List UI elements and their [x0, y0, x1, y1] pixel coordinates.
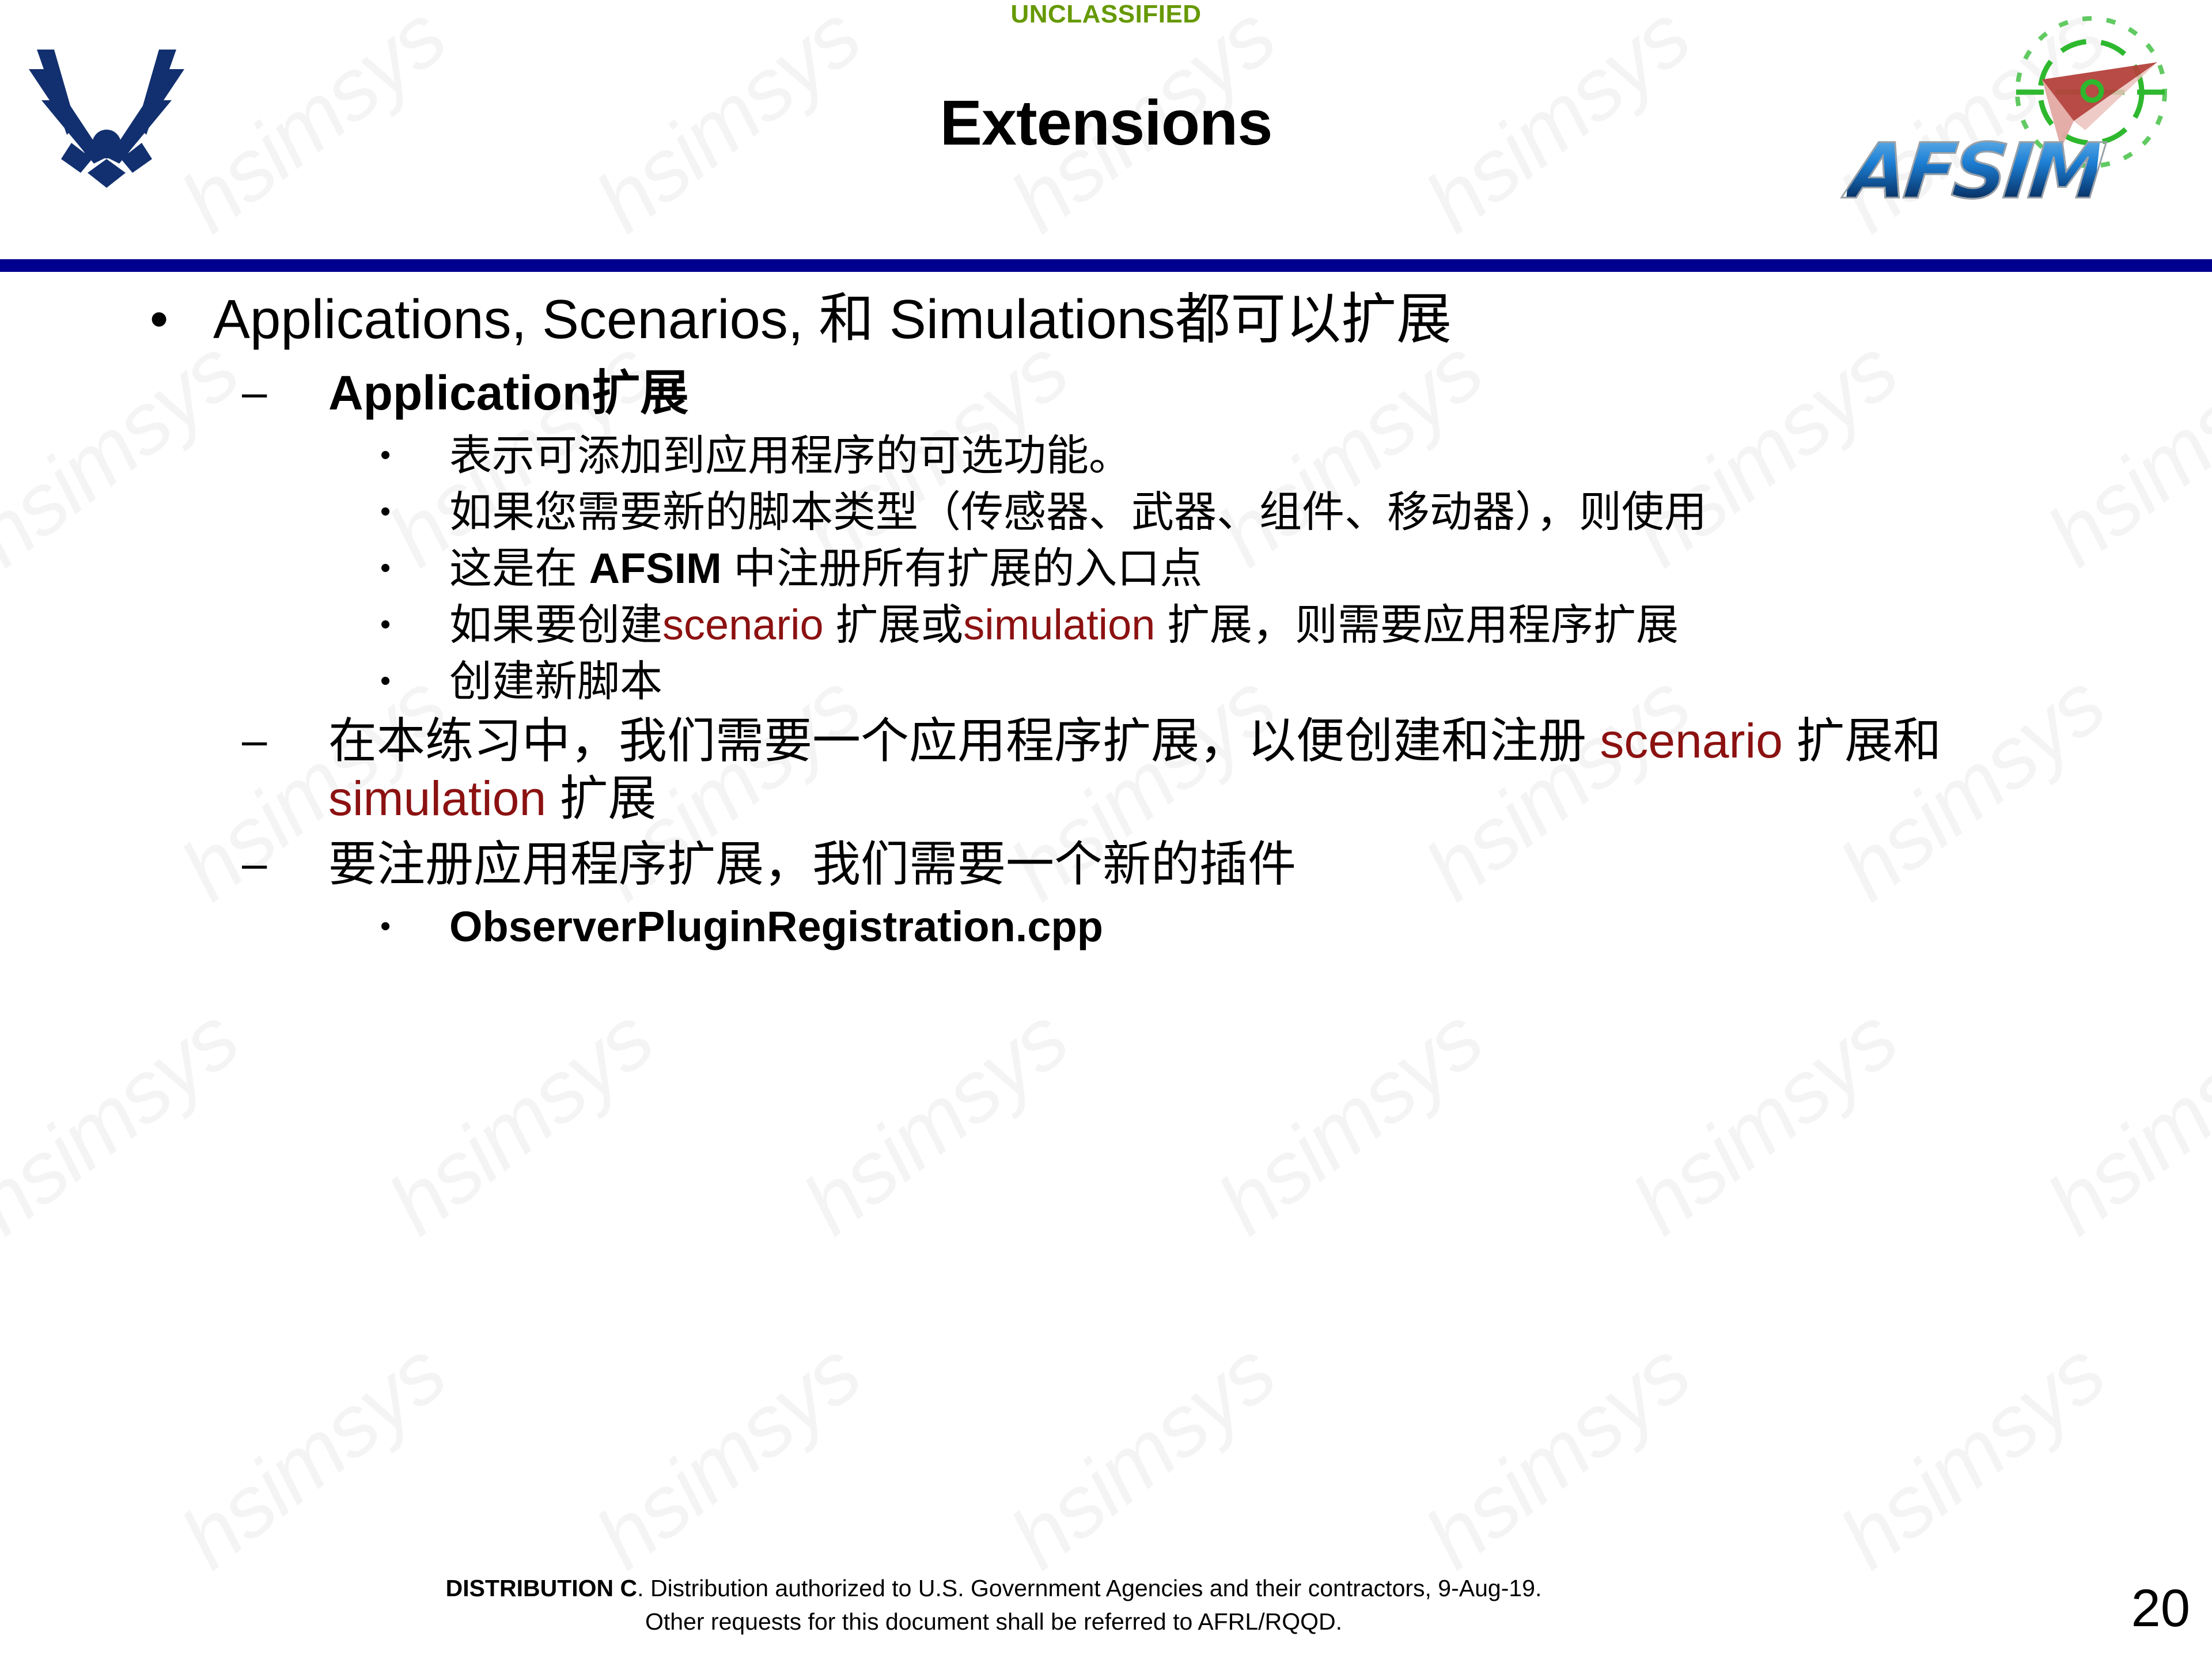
bullet-text-segment: scenario: [1600, 714, 1783, 768]
bullet-text: Applications, Scenarios, 和 Simulations都可…: [213, 288, 2212, 351]
distribution-text: . Distribution authorized to U.S. Govern…: [637, 1575, 1541, 1601]
disc-bullet-icon: •: [150, 288, 213, 350]
bullet-level-3: •如果您需要新的脚本类型（传感器、武器、组件、移动器），则使用: [0, 486, 2212, 538]
distribution-label: DISTRIBUTION C: [446, 1575, 638, 1601]
bullet-text-segment: 扩展和: [1783, 714, 1941, 768]
bullet-text: 表示可添加到应用程序的可选功能。: [449, 430, 2212, 482]
bullet-level-3: •这是在 AFSIM 中注册所有扩展的入口点: [0, 543, 2212, 594]
bullet-level-1: •Applications, Scenarios, 和 Simulations都…: [0, 288, 2212, 351]
watermark-text: hsimsys: [0, 988, 256, 1254]
bullet-text-segment: 扩展: [546, 771, 656, 825]
disc-bullet-icon: •: [380, 543, 449, 593]
watermark-text: hsimsys: [1822, 1323, 2123, 1588]
bullet-level-3: •创建新脚本: [0, 656, 2212, 707]
bullet-text-segment: 如果要创建: [449, 601, 662, 649]
page-number: 20: [2131, 1580, 2190, 1637]
bullet-level-2: –要注册应用程序扩展，我们需要一个新的插件: [0, 835, 2212, 893]
bullet-level-2: –Application扩展: [0, 364, 2212, 422]
dash-bullet-icon: –: [242, 364, 328, 419]
disc-bullet-icon: •: [380, 430, 449, 480]
bullet-text-segment: 在本练习中，我们需要一个应用程序扩展，以便创建和注册: [328, 714, 1600, 768]
bullet-text-segment: 扩展，则需要应用程序扩展: [1155, 601, 1679, 649]
slide-body: •Applications, Scenarios, 和 Simulations都…: [0, 288, 2212, 957]
bullet-text-segment: 中注册所有扩展的入口点: [722, 544, 1203, 592]
watermark-text: hsimsys: [370, 988, 671, 1254]
bullet-text: 在本练习中，我们需要一个应用程序扩展，以便创建和注册 scenario 扩展和s…: [328, 712, 2212, 827]
bullet-text-segment: 这是在: [449, 544, 589, 592]
watermark-text: hsimsys: [993, 1323, 1293, 1588]
bullet-text: 如果要创建scenario 扩展或simulation 扩展，则需要应用程序扩展: [449, 599, 2212, 651]
distribution-line-2: Other requests for this document shall b…: [0, 1605, 1987, 1638]
afsim-logo-icon: AFSIM: [1843, 12, 2200, 225]
disc-bullet-icon: •: [380, 599, 449, 650]
watermark-text: hsimsys: [2029, 988, 2212, 1254]
bullet-level-2: –在本练习中，我们需要一个应用程序扩展，以便创建和注册 scenario 扩展和…: [0, 712, 2212, 827]
disc-bullet-icon: •: [380, 486, 449, 537]
distribution-statement: DISTRIBUTION C. Distribution authorized …: [0, 1571, 1987, 1638]
bullet-text-segment: simulation: [328, 771, 546, 825]
disc-bullet-icon: •: [380, 656, 449, 706]
bullet-text: Application扩展: [328, 364, 2212, 422]
title-divider: [0, 259, 2212, 272]
bullet-text-segment: scenario: [662, 601, 824, 649]
afsim-wordmark: AFSIM: [1844, 126, 2102, 218]
dash-bullet-icon: –: [242, 835, 328, 891]
bullet-text-segment: 扩展或: [824, 601, 964, 649]
bullet-text: 创建新脚本: [449, 656, 2212, 707]
watermark-text: hsimsys: [785, 988, 1086, 1254]
distribution-line-1: DISTRIBUTION C. Distribution authorized …: [0, 1571, 1987, 1605]
bullet-text: 要注册应用程序扩展，我们需要一个新的插件: [328, 835, 2212, 893]
watermark-text: hsimsys: [1200, 988, 1501, 1254]
watermark-text: hsimsys: [1407, 1323, 1708, 1588]
bullet-level-3: •如果要创建scenario 扩展或simulation 扩展，则需要应用程序扩…: [0, 599, 2212, 651]
usaf-logo-icon: [12, 22, 202, 189]
watermark-text: hsimsys: [578, 1323, 878, 1588]
bullet-text: 这是在 AFSIM 中注册所有扩展的入口点: [449, 543, 2212, 594]
dash-bullet-icon: –: [242, 712, 328, 767]
bullet-level-3: •表示可添加到应用程序的可选功能。: [0, 430, 2212, 482]
bullet-text: 如果您需要新的脚本类型（传感器、武器、组件、移动器），则使用: [449, 486, 2212, 538]
bullet-level-3: •ObserverPluginRegistration.cpp: [0, 901, 2212, 953]
disc-bullet-icon: •: [380, 901, 449, 952]
watermark-text: hsimsys: [163, 1323, 464, 1588]
watermark-text: hsimsys: [1615, 988, 1915, 1254]
bullet-text-segment: simulation: [963, 601, 1155, 649]
bullet-text: ObserverPluginRegistration.cpp: [449, 901, 2212, 953]
bullet-text-segment: AFSIM: [589, 544, 722, 592]
